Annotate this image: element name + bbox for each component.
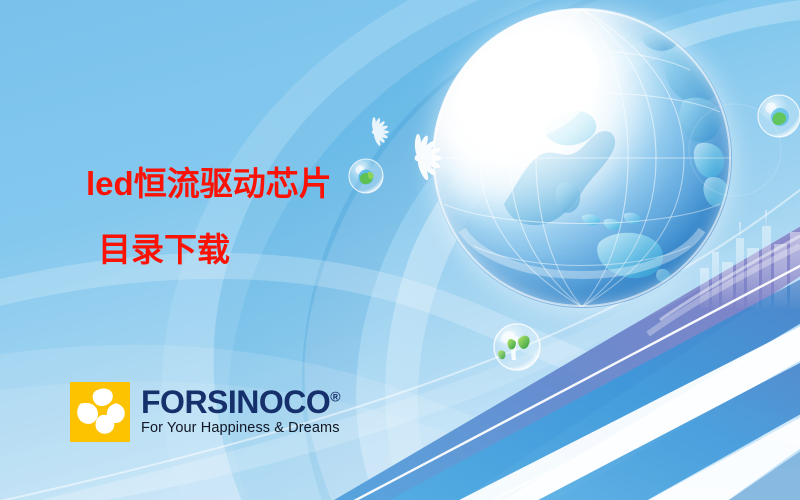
globe-rim-highlight: [432, 8, 732, 308]
headline-line-2: 目录下载: [98, 231, 416, 271]
brand-text: FORSINOCO® For Your Happiness & Dreams: [141, 387, 340, 437]
brand-name-text: FORSINOCO: [141, 384, 330, 420]
brand-tagline: For Your Happiness & Dreams: [141, 419, 340, 437]
headline-block: led恒流驱动芯片 目录下载: [86, 164, 416, 271]
headline-cjk: 恒流驱动芯片: [134, 167, 332, 203]
earth-globe: [432, 8, 732, 308]
four-petal-pinwheel-icon: [70, 382, 130, 442]
brand-name: FORSINOCO®: [141, 387, 340, 417]
headline-line-1: led恒流驱动芯片: [86, 164, 416, 205]
brand-logo[interactable]: FORSINOCO® For Your Happiness & Dreams: [70, 382, 340, 442]
headline-latin: led: [86, 165, 134, 202]
banner-image: led恒流驱动芯片 目录下载 FORSINOCO® For Your Happi…: [0, 0, 800, 500]
registered-mark: ®: [330, 388, 340, 404]
